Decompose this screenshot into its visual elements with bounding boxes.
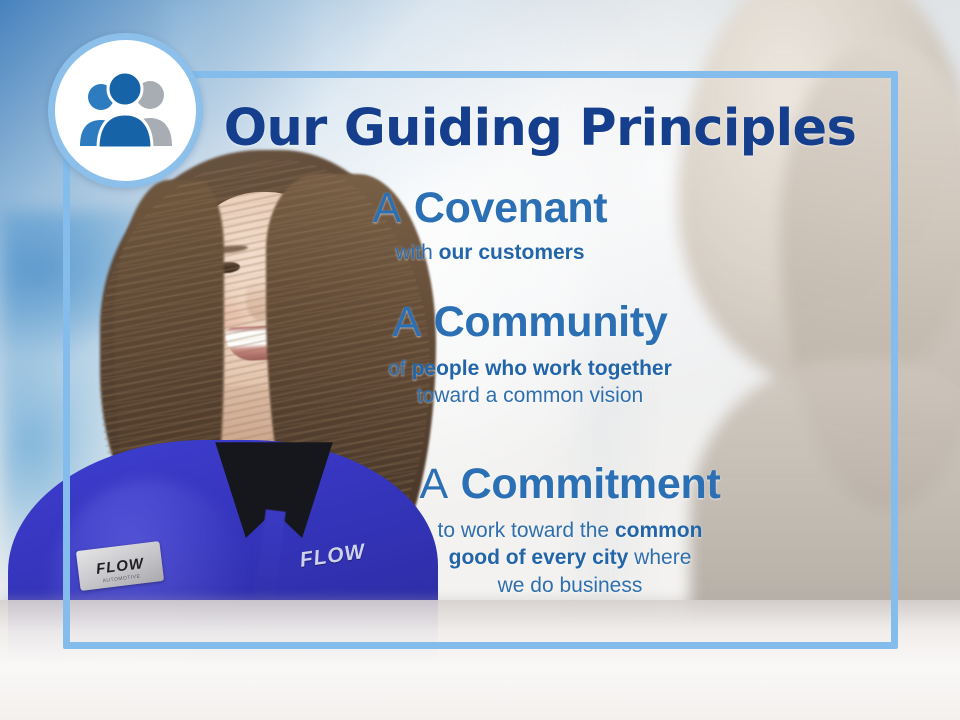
people-group-icon <box>74 72 178 150</box>
people-icon-badge <box>48 33 203 188</box>
blurred-customer <box>660 0 960 520</box>
customer-shoulder <box>690 360 960 620</box>
promotional-graphic: FLOW AUTOMOTIVE FLOW Our Guiding Princip… <box>0 0 960 720</box>
desk-surface <box>0 600 960 720</box>
